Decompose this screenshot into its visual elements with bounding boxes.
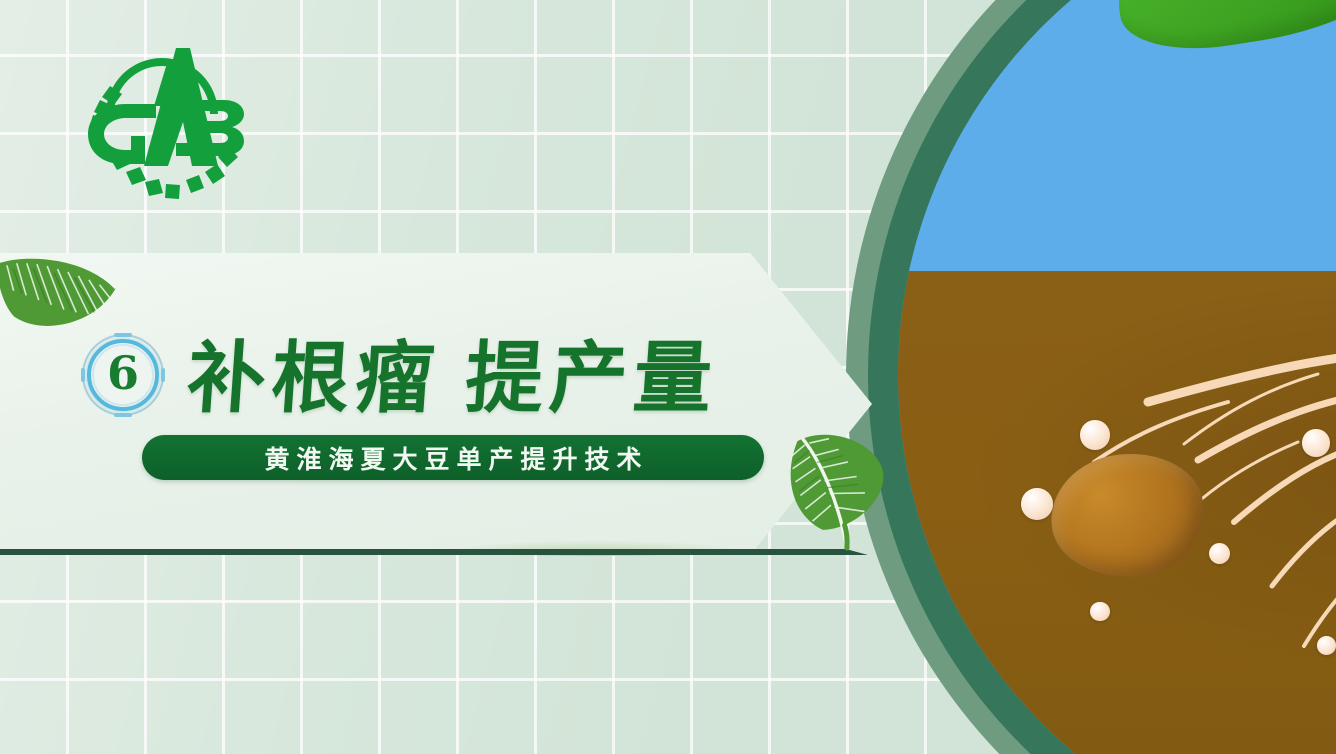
subtitle-pill: 黄淮海夏大豆单产提升技术 bbox=[142, 435, 764, 480]
step-number-badge: 6 bbox=[82, 334, 164, 416]
organization-logo bbox=[72, 26, 250, 204]
root-system bbox=[898, 0, 1336, 754]
badge-number: 6 bbox=[82, 334, 164, 416]
page-title: 补根瘤提产量 bbox=[184, 316, 722, 428]
headline-part-2: 提产量 bbox=[462, 334, 720, 424]
leaf-icon bbox=[0, 240, 126, 345]
root-nodule bbox=[1317, 636, 1336, 655]
soybean-scene bbox=[898, 0, 1336, 754]
root-nodule bbox=[1080, 420, 1110, 450]
subtitle-text: 黄淮海夏大豆单产提升技术 bbox=[257, 440, 648, 476]
agricultural-academy-emblem-icon bbox=[72, 26, 250, 204]
headline-part-1: 补根瘤 bbox=[184, 334, 442, 424]
root-nodule bbox=[1021, 488, 1053, 520]
illustration-circle bbox=[846, 0, 1336, 754]
banner-bottom-edge bbox=[0, 549, 868, 555]
poster-canvas: 6 补根瘤提产量 黄淮海夏大豆单产提升技术 bbox=[0, 0, 1336, 754]
root-nodule bbox=[1302, 429, 1330, 457]
